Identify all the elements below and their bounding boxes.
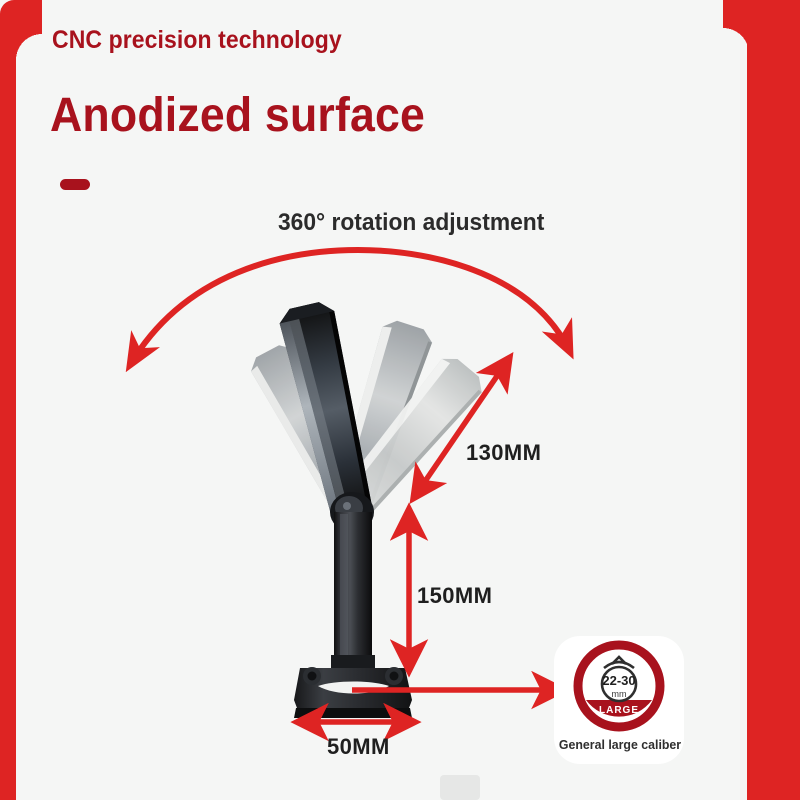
dimension-label-130mm: 130MM (466, 440, 541, 466)
rotation-arc (130, 250, 570, 365)
product-illustration: 22-30 mm LARGE (0, 0, 800, 800)
badge-unit-text: mm (612, 689, 627, 699)
bottom-edge-artifact (440, 775, 480, 800)
support-pole (331, 512, 375, 672)
dimension-label-150mm: 150MM (417, 583, 492, 609)
dimension-label-50mm: 50MM (327, 734, 390, 760)
badge-caption: General large caliber (551, 737, 690, 752)
badge-range-text: 22-30 (602, 673, 635, 688)
infographic-page: CNC precision technology Anodized surfac… (0, 0, 800, 800)
badge-banner-text: LARGE (599, 705, 639, 716)
